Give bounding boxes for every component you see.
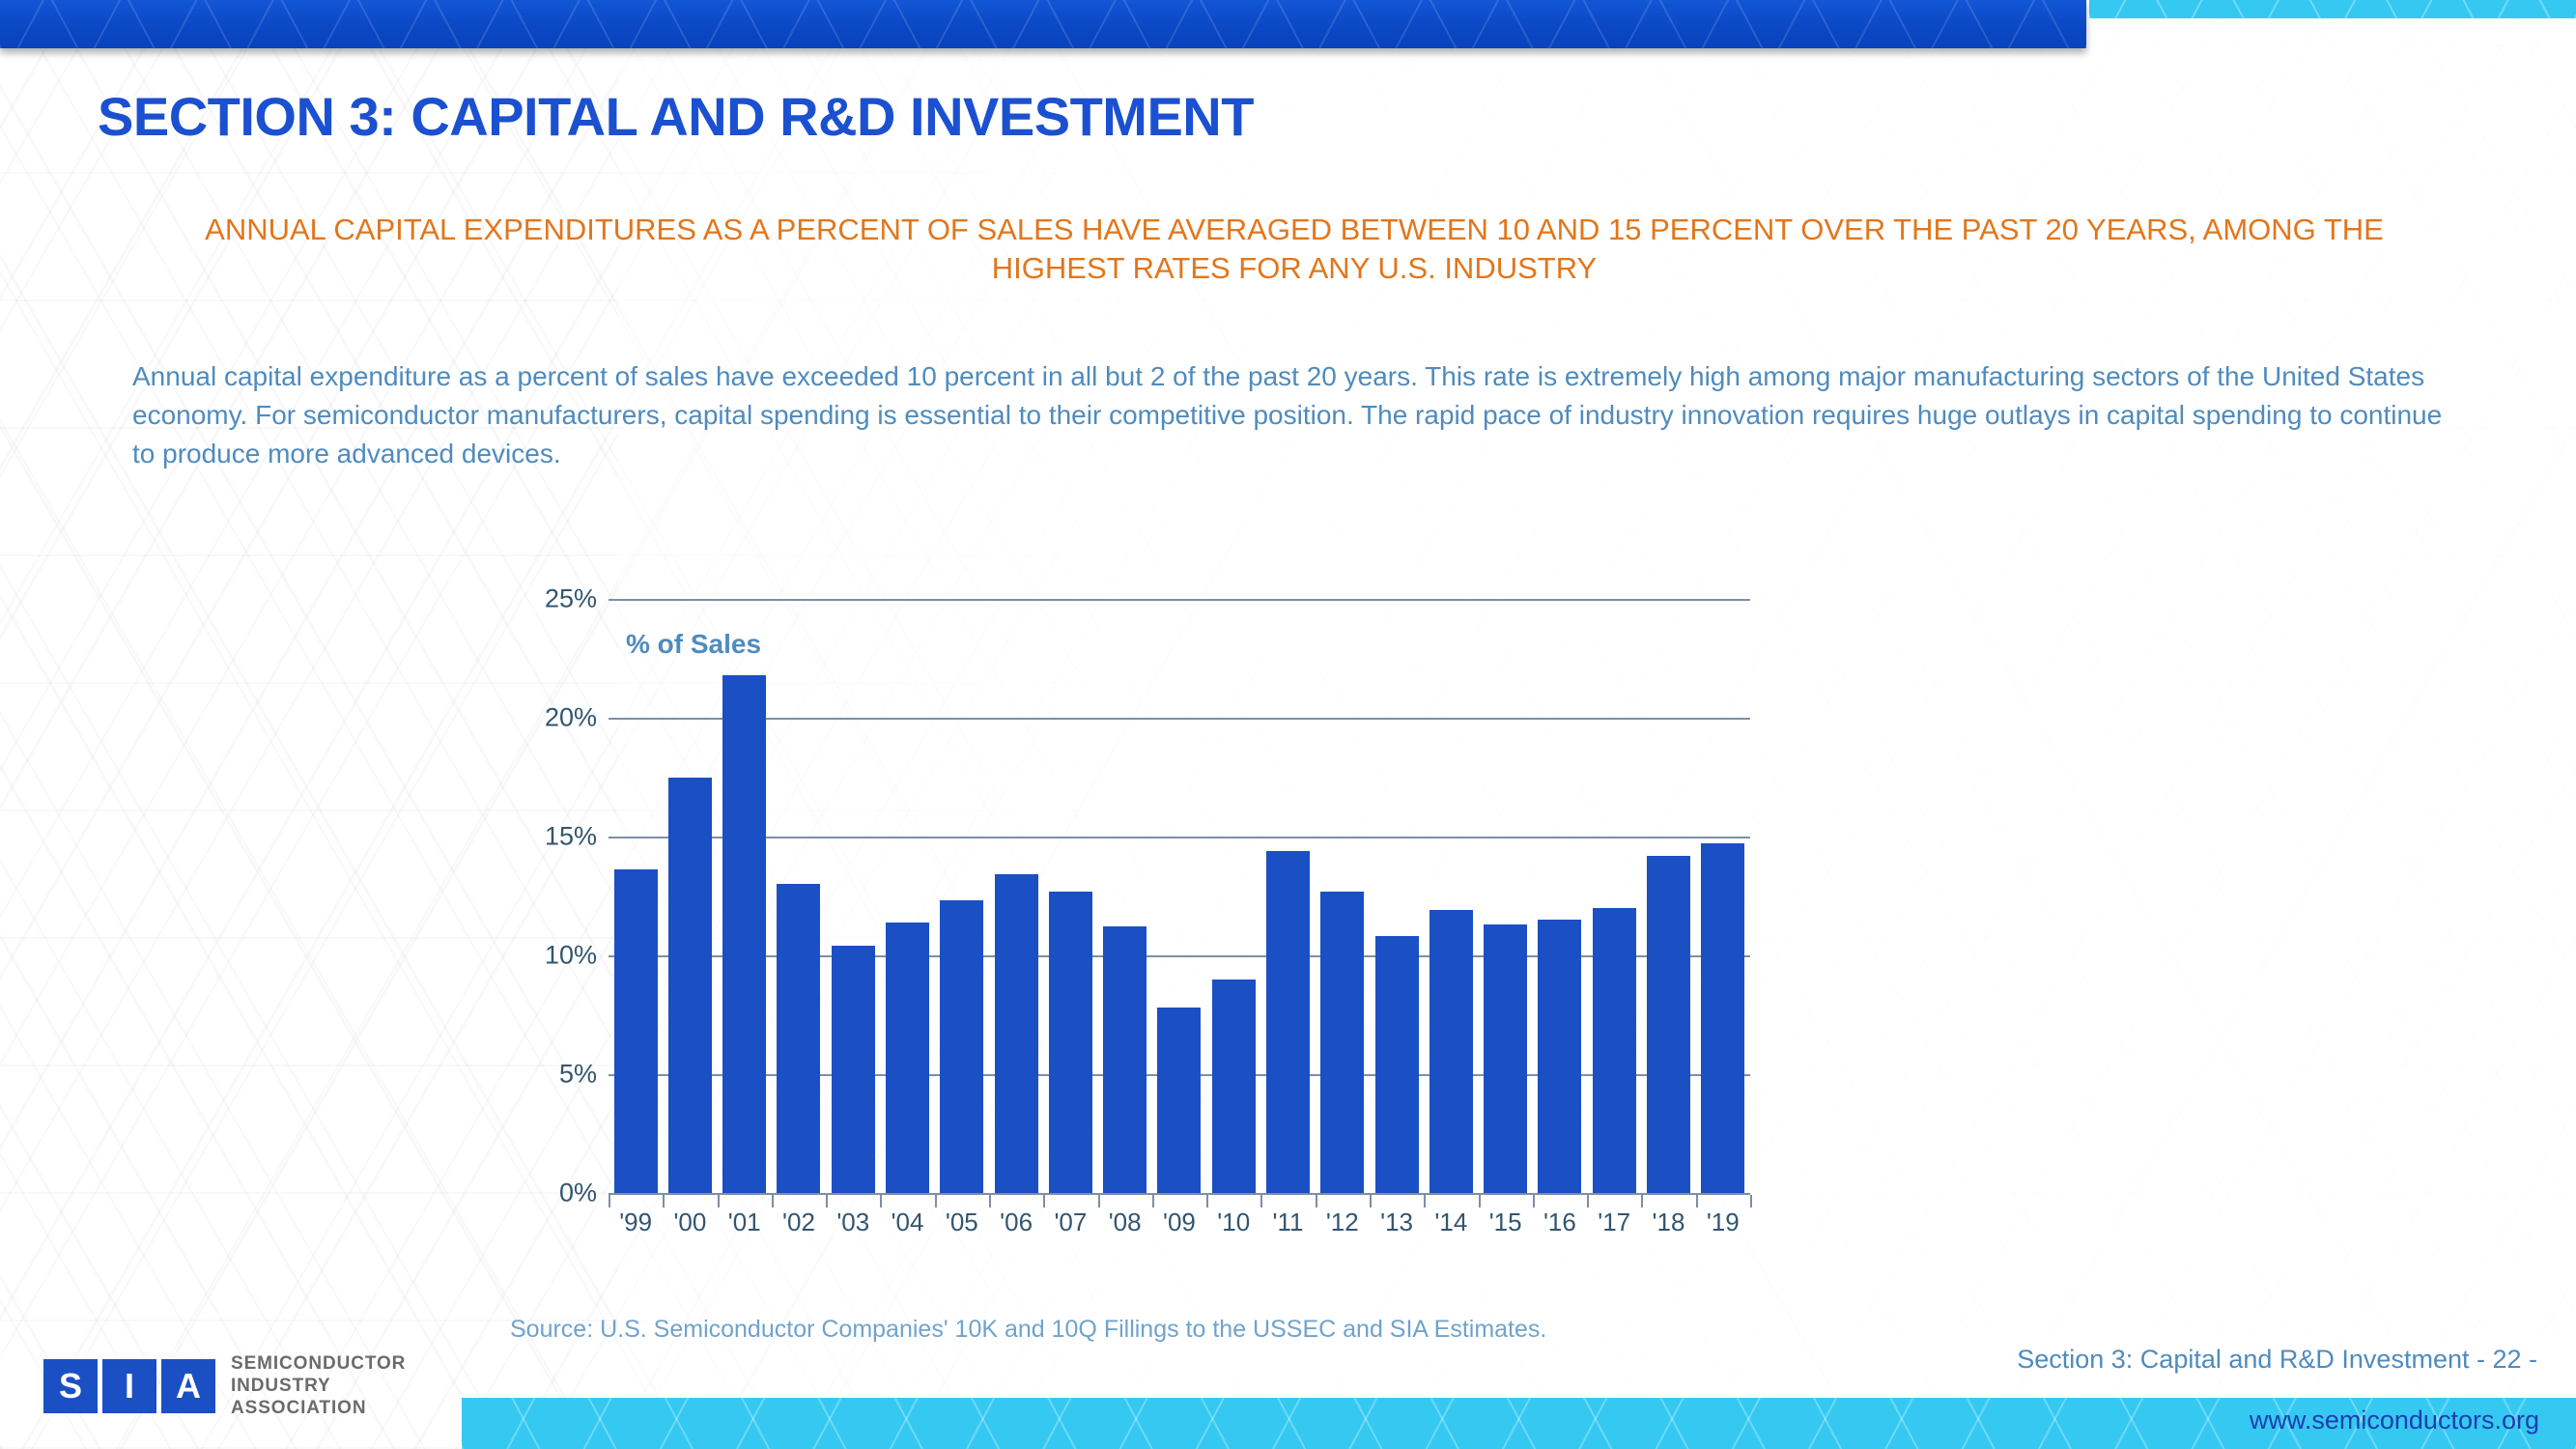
x-axis-label: '08 [1098,1207,1152,1237]
x-axis-label: '10 [1206,1207,1260,1237]
bar-cell [718,599,772,1193]
bar-cell [1479,599,1533,1193]
header-cyan-band [2089,0,2576,18]
chart-bar[interactable] [1212,980,1256,1193]
x-axis-tick [1533,1195,1535,1207]
slide-subtitle: ANNUAL CAPITAL EXPENDITURES AS A PERCENT… [145,211,2444,289]
x-axis-label: '03 [826,1207,880,1237]
chart-bar[interactable] [832,946,875,1193]
x-axis-label: '05 [935,1207,989,1237]
chart-bar[interactable] [1320,892,1364,1193]
bar-cell [609,599,663,1193]
x-axis-tick [1587,1195,1589,1207]
bar-cell [1587,599,1641,1193]
x-axis-tick [1098,1195,1100,1207]
y-axis-label: 10% [545,941,597,971]
bar-cell [1370,599,1424,1193]
footer-section-label: Section 3: Capital and R&D Investment - … [2017,1345,2537,1375]
x-axis-label: '15 [1479,1207,1533,1237]
x-axis-label: '12 [1316,1207,1370,1237]
x-axis-tick [989,1195,991,1207]
sia-logo-wordmark: SEMICONDUCTOR INDUSTRY ASSOCIATION [231,1352,406,1420]
chart-bar[interactable] [1701,843,1744,1193]
header-blue-band [0,0,2086,48]
chart-bar[interactable] [1430,910,1473,1193]
sia-logo-letter-s: S [43,1359,98,1413]
y-axis-label: 0% [559,1179,597,1208]
chart-bar[interactable] [1375,936,1419,1193]
x-axis-line [609,1193,1750,1195]
x-axis-label: '16 [1533,1207,1587,1237]
chart-bar[interactable] [1103,926,1146,1193]
bar-cell [1316,599,1370,1193]
x-axis-tick [1316,1195,1317,1207]
chart-bar[interactable] [1647,856,1690,1193]
chart-bar[interactable] [1266,851,1310,1193]
bar-cell [1696,599,1750,1193]
chart-bar[interactable] [722,675,766,1193]
x-axis-tick [663,1195,665,1207]
bar-cell [1260,599,1315,1193]
bar-cell [772,599,826,1193]
x-axis-label: '17 [1587,1207,1641,1237]
x-axis-label: '19 [1696,1207,1750,1237]
x-axis-tick [1260,1195,1262,1207]
chart-bar[interactable] [940,900,983,1193]
x-axis-label: '99 [609,1207,663,1237]
sia-logo-marks: S I A [43,1359,215,1413]
x-axis-tick [772,1195,774,1207]
chart-bar[interactable] [1157,1008,1201,1193]
bar-cell [1533,599,1587,1193]
sia-logo-letter-a: A [161,1359,215,1413]
x-axis-tick [1424,1195,1426,1207]
x-axis-label: '18 [1641,1207,1695,1237]
chart-bar[interactable] [668,778,712,1194]
x-axis-tick [1750,1195,1752,1207]
y-axis-label: 5% [559,1060,597,1090]
bar-cell [663,599,717,1193]
x-axis-tick [609,1195,610,1207]
sia-logo-line-2: INDUSTRY [231,1375,406,1397]
y-axis-label: 20% [545,703,597,733]
x-axis-tick [935,1195,937,1207]
series-label: % of Sales [626,629,761,660]
x-axis-tick [826,1195,828,1207]
x-axis-tick [1043,1195,1045,1207]
chart-bar[interactable] [995,874,1038,1193]
x-axis-tick-labels: '99'00'01'02'03'04'05'06'07'08'09'10'11'… [609,1207,1750,1237]
x-axis-label: '06 [989,1207,1043,1237]
chart-bar[interactable] [614,869,658,1193]
x-axis-label: '14 [1424,1207,1478,1237]
x-axis-tick [718,1195,720,1207]
bar-cell [1152,599,1206,1193]
x-axis-tick [880,1195,882,1207]
bar-cell [1043,599,1097,1193]
bar-cell [1206,599,1260,1193]
bar-cell [935,599,989,1193]
y-axis-tick-labels: 25%20%15%10%5%0% [522,599,597,1193]
chart-bar[interactable] [1049,892,1092,1193]
chart-bars [609,599,1750,1193]
bar-cell [1098,599,1152,1193]
bar-cell [989,599,1043,1193]
x-axis-tick [1641,1195,1643,1207]
x-axis-tick [1370,1195,1372,1207]
chart-bar[interactable] [1484,924,1527,1193]
bar-cell [880,599,934,1193]
chart-bar[interactable] [1538,920,1581,1193]
chart-bar[interactable] [777,884,820,1193]
body-paragraph: Annual capital expenditure as a percent … [132,357,2460,472]
sia-logo-line-3: ASSOCIATION [231,1397,406,1419]
x-axis-label: '02 [772,1207,826,1237]
x-axis-label: '07 [1043,1207,1097,1237]
bar-cell [1641,599,1695,1193]
x-axis-tick [1696,1195,1698,1207]
page-title: SECTION 3: CAPITAL AND R&D INVESTMENT [98,85,1254,148]
x-axis-label: '13 [1370,1207,1424,1237]
sia-logo-letter-i: I [102,1359,156,1413]
source-note: Source: U.S. Semiconductor Companies' 10… [510,1316,1546,1344]
x-axis-label: '00 [663,1207,717,1237]
x-axis-tick [1479,1195,1481,1207]
x-axis-label: '09 [1152,1207,1206,1237]
chart-bar[interactable] [1593,908,1636,1193]
x-axis-label: '11 [1260,1207,1315,1237]
y-axis-label: 15% [545,822,597,852]
footer-url[interactable]: www.semiconductors.org [2250,1406,2539,1435]
x-axis-tick [1206,1195,1208,1207]
x-axis-label: '01 [718,1207,772,1237]
sia-logo-line-1: SEMICONDUCTOR [231,1352,406,1375]
chart-bar[interactable] [886,923,929,1193]
x-axis-tick [1152,1195,1154,1207]
x-axis-label: '04 [880,1207,934,1237]
sia-logo: S I A SEMICONDUCTOR INDUSTRY ASSOCIATION [43,1352,406,1420]
bar-cell [1424,599,1478,1193]
y-axis-label: 25% [545,584,597,614]
bar-cell [826,599,880,1193]
